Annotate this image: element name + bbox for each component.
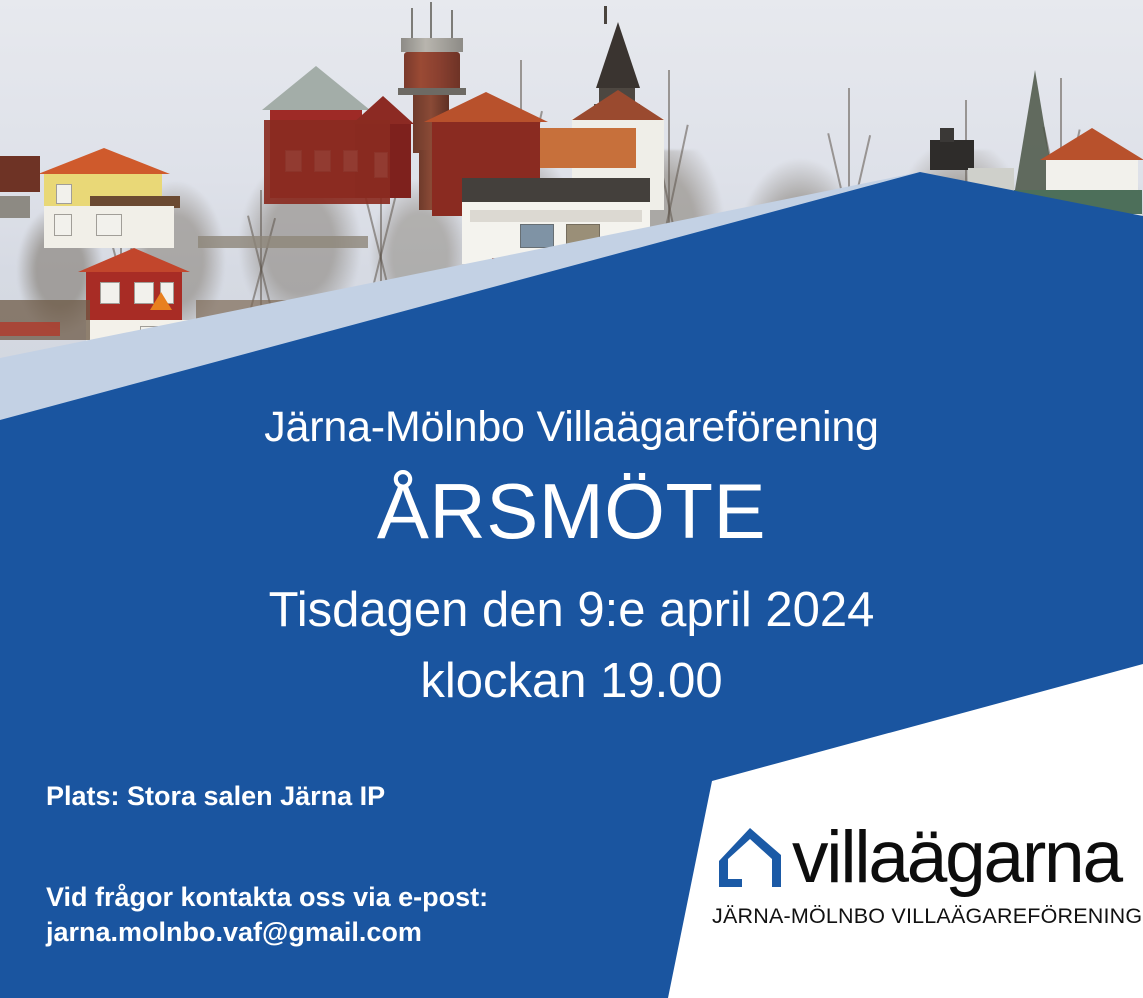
house-outline-icon	[712, 821, 790, 893]
page-title: ÅRSMÖTE	[0, 472, 1143, 550]
logo-subtitle: JÄRNA-MÖLNBO VILLAÄGAREFÖRENING	[712, 904, 1124, 929]
logo-wordmark: villaägarna	[792, 821, 1121, 894]
contact-email[interactable]: jarna.molnbo.vaf@gmail.com	[46, 915, 488, 950]
organization-name: Järna-Mölnbo Villaägareförening	[0, 406, 1143, 449]
event-location: Plats: Stora salen Järna IP	[46, 779, 385, 814]
event-time: klockan 19.00	[0, 657, 1143, 706]
contact-label: Vid frågor kontakta oss via e-post:	[46, 880, 488, 915]
event-date: Tisdagen den 9:e april 2024	[0, 586, 1143, 635]
villaagarna-logo: villaägarna JÄRNA-MÖLNBO VILLAÄGAREFÖREN…	[712, 816, 1124, 929]
contact-block: Vid frågor kontakta oss via e-post: jarn…	[46, 880, 488, 950]
logo-row: villaägarna	[712, 816, 1124, 898]
poster-canvas: Järna-Mölnbo Villaägareförening ÅRSMÖTE …	[0, 0, 1143, 998]
